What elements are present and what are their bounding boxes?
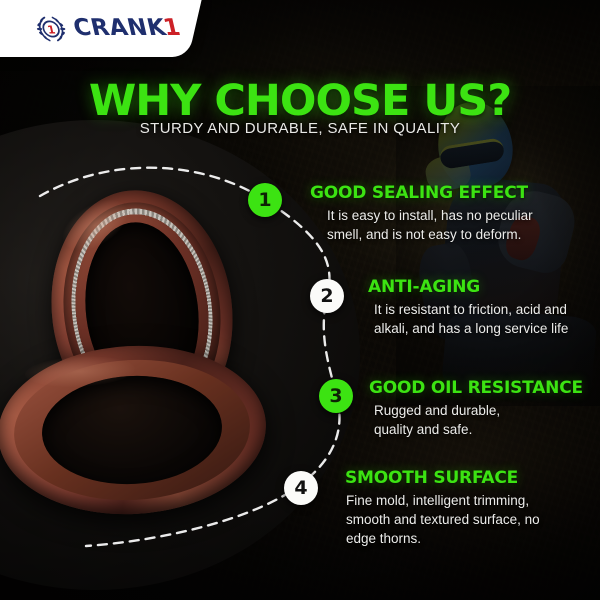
product-image-oil-seals: [4, 186, 266, 516]
feature-badge-1: 1: [248, 183, 282, 217]
why-choose-us-infographic: 1 CRANK1 WHY CHOOSE US? STURDY AND DURAB…: [0, 0, 600, 600]
feature-body-4: Fine mold, intelligent trimming, smooth …: [345, 491, 600, 548]
feature-title-3: GOOD OIL RESISTANCE: [369, 378, 600, 398]
feature-title-4: SMOOTH SURFACE: [345, 468, 600, 488]
page-subtitle: STURDY AND DURABLE, SAFE IN QUALITY: [0, 120, 600, 137]
laurel-wreath-number-one-icon: 1: [30, 12, 72, 46]
feature-body-3: Rugged and durable, quality and safe.: [369, 401, 600, 439]
feature-badge-3: 3: [319, 379, 353, 413]
feature-badge-2: 2: [310, 279, 344, 313]
page-title: WHY CHOOSE US?: [0, 76, 600, 126]
brand-logo: 1 CRANK1: [0, 0, 222, 57]
brand-wordmark: CRANK1: [71, 17, 183, 40]
feature-title-1: GOOD SEALING EFFECT: [310, 183, 600, 203]
svg-text:1: 1: [46, 23, 57, 36]
feature-body-2: It is resistant to friction, acid and al…: [368, 300, 600, 338]
oil-seal-lying: [0, 339, 270, 521]
feature-title-2: ANTI-AGING: [368, 277, 600, 297]
feature-badge-4: 4: [284, 471, 318, 505]
feature-body-1: It is easy to install, has no peculiar s…: [310, 206, 600, 244]
brand-name-primary: CRANK: [71, 17, 168, 40]
